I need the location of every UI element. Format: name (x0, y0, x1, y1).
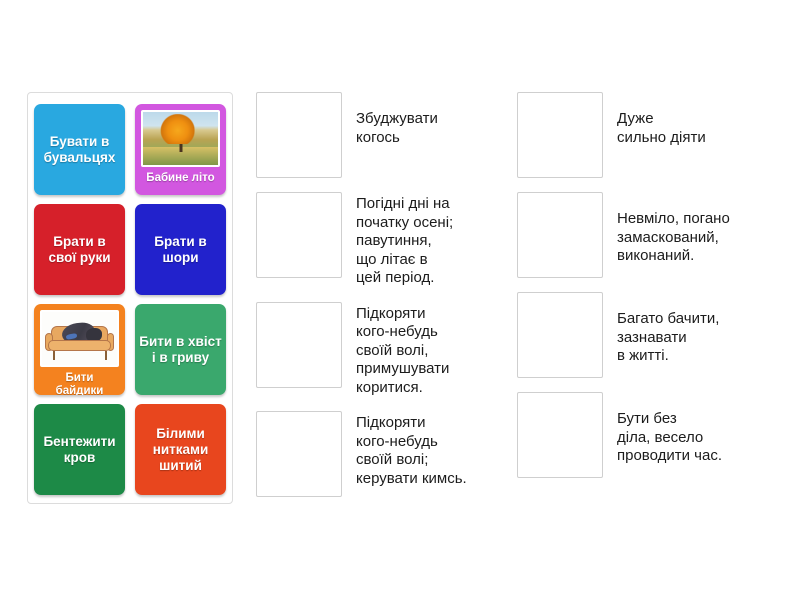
draggable-tile-byty-baydyky[interactable]: Бити байдики (34, 304, 125, 395)
draggable-tile-braty-v-svoyi-ruky[interactable]: Брати в свої руки (34, 204, 125, 295)
definition-text: Збуджувати когось (342, 92, 526, 147)
tile-label: Бувати в бувальцях (34, 134, 125, 166)
definition-row: Багато бачити, зазнавати в житті. (517, 292, 787, 378)
definitions-column-right: Дуже сильно діяти Невміло, погано замаск… (517, 92, 787, 492)
drop-zone[interactable] (256, 192, 342, 278)
drop-zone[interactable] (256, 92, 342, 178)
definition-row: Збуджувати когось (256, 92, 526, 178)
activity-stage: Бувати в бувальцях Бабине літо Брати в с… (0, 0, 800, 600)
definition-text: Невміло, погано замаскований, виконаний. (603, 192, 787, 266)
autumn-tree-artwork (143, 112, 218, 165)
autumn-tree-photo (141, 110, 220, 167)
tile-label: Білими нитками шитий (135, 426, 226, 474)
tile-label: Бити байдики (40, 372, 119, 395)
tile-label: Брати в шори (135, 234, 226, 266)
drop-zone[interactable] (517, 392, 603, 478)
draggable-tile-byty-v-hvist-i-v-hryvu[interactable]: Бити в хвіст і в гриву (135, 304, 226, 395)
definition-row: Бути без діла, весело проводити час. (517, 392, 787, 478)
draggable-tile-bentezhyty-krov[interactable]: Бентежити кров (34, 404, 125, 495)
definition-row: Невміло, погано замаскований, виконаний. (517, 192, 787, 278)
definition-text: Багато бачити, зазнавати в житті. (603, 292, 787, 366)
draggable-tile-braty-v-shory[interactable]: Брати в шори (135, 204, 226, 295)
definition-text: Дуже сильно діяти (603, 92, 787, 147)
definition-row: Підкоряти кого-небудь своїй волі, примуш… (256, 302, 526, 398)
definition-text: Бути без діла, весело проводити час. (603, 392, 787, 466)
definition-row: Підкоряти кого-небудь своїй волі; керува… (256, 411, 526, 497)
tile-label: Бабине літо (142, 172, 218, 185)
drop-zone[interactable] (256, 302, 342, 388)
drop-zone[interactable] (256, 411, 342, 497)
definition-row: Погідні дні на початку осені; павутиння,… (256, 192, 526, 288)
draggable-tile-babyne-lito[interactable]: Бабине літо (135, 104, 226, 195)
definitions-column-left: Збуджувати когось Погідні дні на початку… (256, 92, 526, 511)
lazy-person-on-sofa-illustration (40, 310, 119, 367)
tile-label: Брати в свої руки (34, 234, 125, 266)
definition-row: Дуже сильно діяти (517, 92, 787, 178)
sofa-artwork (42, 312, 117, 365)
sofa-leg-left (53, 351, 55, 359)
tile-grid: Бувати в бувальцях Бабине літо Брати в с… (34, 104, 232, 495)
sofa-leg-right (105, 351, 107, 359)
definition-text: Погідні дні на початку осені; павутиння,… (342, 192, 526, 288)
drop-zone[interactable] (517, 192, 603, 278)
sofa-seat (48, 340, 111, 352)
draggable-tile-bilymy-nytkamy-shytyy[interactable]: Білими нитками шитий (135, 404, 226, 495)
drop-zone[interactable] (517, 92, 603, 178)
tree-canopy (160, 114, 195, 144)
drop-zone[interactable] (517, 292, 603, 378)
definition-text: Підкоряти кого-небудь своїй волі; керува… (342, 411, 526, 488)
tile-label: Бити в хвіст і в гриву (135, 334, 226, 366)
definition-text: Підкоряти кого-небудь своїй волі, примуш… (342, 302, 526, 398)
draggable-tile-buvaty-v-buvaltsyah[interactable]: Бувати в бувальцях (34, 104, 125, 195)
tile-panel: Бувати в бувальцях Бабине літо Брати в с… (27, 92, 233, 504)
tile-label: Бентежити кров (34, 434, 125, 466)
